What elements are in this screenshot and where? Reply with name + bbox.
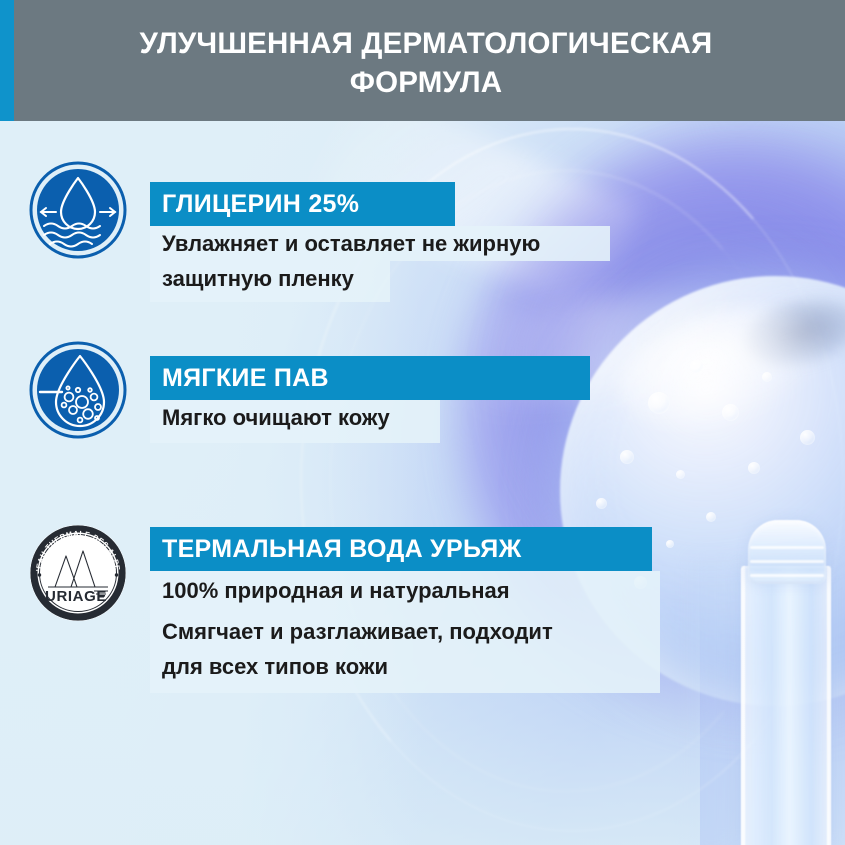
feature-heading: ГЛИЦЕРИН 25% [162, 192, 359, 217]
description-line: Смягчает и разглаживает, подходит [150, 608, 660, 649]
infographic-page: УЛУЧШЕННАЯ ДЕРМАТОЛОГИЧЕСКАЯ ФОРМУЛА [0, 0, 845, 845]
feature-description: Мягко очищают кожу [150, 400, 440, 443]
header-accent-stripe [0, 0, 14, 121]
description-line: 100% природная и натуральная [150, 571, 660, 608]
feature-heading: ТЕРМАЛЬНАЯ ВОДА УРЬЯЖ [162, 537, 521, 562]
description-line: Увлажняет и оставляет не жирную [150, 226, 610, 261]
description-line: защитную пленку [150, 261, 390, 302]
uriage-thermal-water-seal-icon: L'EAU THERMALE DES ALPES FRENCH ALPS THE… [28, 523, 128, 623]
feature-description: Увлажняет и оставляет не жирную защитную… [150, 226, 610, 302]
feature-heading-banner: МЯГКИЕ ПАВ [150, 356, 590, 400]
page-title: УЛУЧШЕННАЯ ДЕРМАТОЛОГИЧЕСКАЯ ФОРМУЛА [56, 24, 796, 102]
description-line: Мягко очищают кожу [150, 400, 440, 443]
feature-heading: МЯГКИЕ ПАВ [162, 366, 329, 391]
feature-heading-banner: ТЕРМАЛЬНАЯ ВОДА УРЬЯЖ [150, 527, 652, 571]
feature-description: 100% природная и натуральная Смягчает и … [150, 571, 660, 693]
drop-with-bubbles-icon [28, 340, 128, 440]
water-drop-hydration-icon [28, 160, 128, 260]
description-line: для всех типов кожи [150, 649, 660, 692]
header-bar: УЛУЧШЕННАЯ ДЕРМАТОЛОГИЧЕСКАЯ ФОРМУЛА [0, 0, 845, 121]
features-list: ГЛИЦЕРИН 25% Увлажняет и оставляет не жи… [0, 0, 845, 845]
feature-heading-banner: ГЛИЦЕРИН 25% [150, 182, 455, 226]
